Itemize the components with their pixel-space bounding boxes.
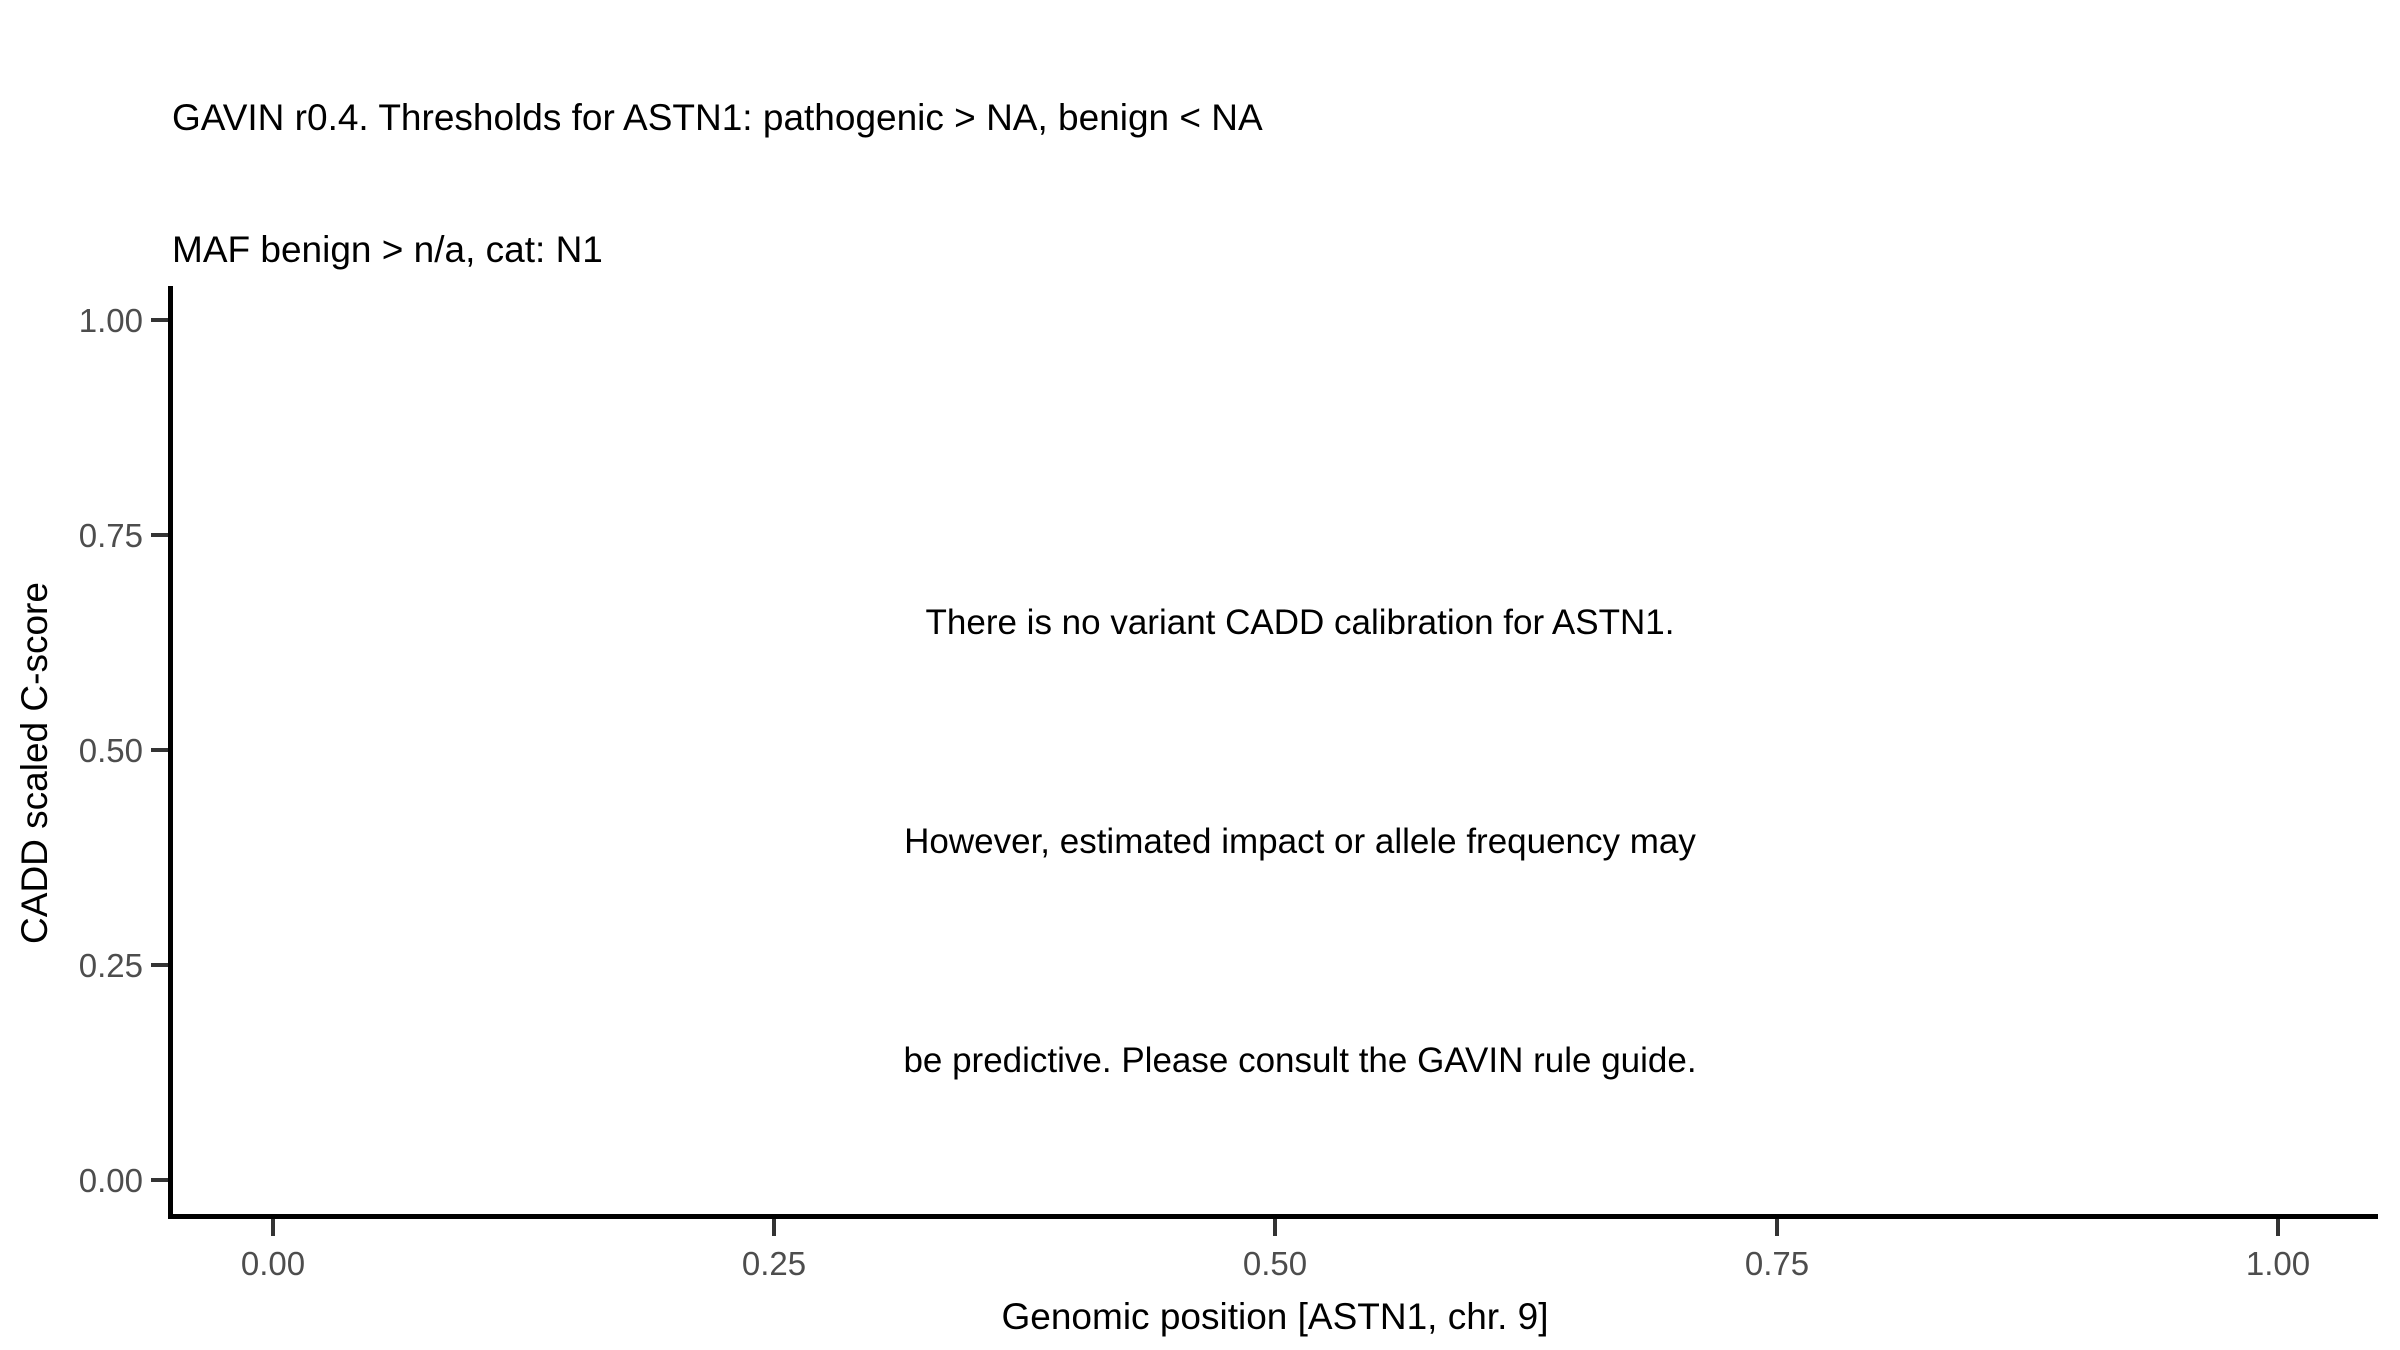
no-calibration-annotation: There is no variant CADD calibration for…: [600, 440, 2000, 1170]
plot-title-line-1: GAVIN r0.4. Thresholds for ASTN1: pathog…: [172, 96, 2372, 140]
plot-title-line-2: MAF benign > n/a, cat: N1: [172, 228, 2372, 272]
annotation-line-3: be predictive. Please consult the GAVIN …: [600, 1024, 2000, 1097]
x-tick-mark-0.75: [1775, 1219, 1779, 1236]
y-axis-line: [168, 286, 173, 1219]
annotation-line-1: There is no variant CADD calibration for…: [600, 586, 2000, 659]
y-tick-mark-0.50: [151, 748, 168, 752]
x-tick-label-0.25: 0.25: [664, 1245, 884, 1283]
x-tick-label-0.00: 0.00: [163, 1245, 383, 1283]
x-tick-label-0.75: 0.75: [1667, 1245, 1887, 1283]
y-tick-mark-0.25: [151, 963, 168, 967]
x-tick-mark-0.00: [271, 1219, 275, 1236]
x-tick-mark-1.00: [2276, 1219, 2280, 1236]
y-axis-title: CADD scaled C-score: [14, 293, 56, 1233]
x-axis-title: Genomic position [ASTN1, chr. 9]: [172, 1296, 2378, 1338]
x-tick-label-0.50: 0.50: [1165, 1245, 1385, 1283]
annotation-line-2: However, estimated impact or allele freq…: [600, 805, 2000, 878]
x-tick-mark-0.50: [1273, 1219, 1277, 1236]
y-tick-mark-1.00: [151, 318, 168, 322]
x-tick-mark-0.25: [772, 1219, 776, 1236]
x-tick-label-1.00: 1.00: [2168, 1245, 2388, 1283]
y-tick-mark-0.00: [151, 1178, 168, 1182]
y-tick-mark-0.75: [151, 533, 168, 537]
